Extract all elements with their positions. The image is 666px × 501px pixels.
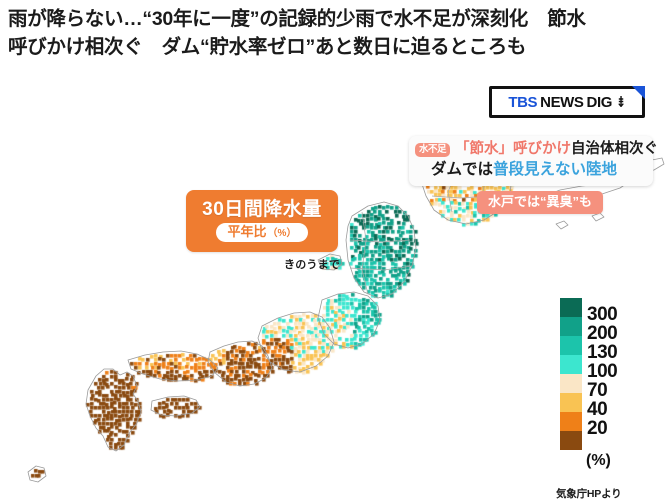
water-shortage-badge: 水不足 <box>415 143 450 157</box>
legend-band-7 <box>560 431 582 450</box>
legend-band-1 <box>560 317 582 336</box>
headline-line-2: 呼びかけ相次ぐ ダム“貯水率ゼロ”あと数日に迫るところも <box>8 36 526 58</box>
info-line1-highlight: 「節水」呼びかけ <box>455 141 571 157</box>
info-panel-line-2: ダムでは普段見えない陸地 <box>431 161 617 180</box>
download-arrow-icon: ⇟ <box>616 95 626 110</box>
info-line1-rest: 自治体相次ぐ <box>571 141 658 157</box>
headline-line-1: 雨が降らない…“30年に一度”の記録的少雨で水不足が深刻化 節水 <box>8 8 586 30</box>
legend-label-70: 70 <box>587 381 607 400</box>
legend-source-label: 気象庁HPより <box>556 486 621 501</box>
info-panel: 水不足 「節水」呼びかけ自治体相次ぐ ダムでは普段見えない陸地 <box>409 136 653 186</box>
legend-band-0 <box>560 298 582 317</box>
legend-label-200: 200 <box>587 324 617 343</box>
legend-band-2 <box>560 336 582 355</box>
map-subnote: きのうまで <box>284 256 340 272</box>
legend-label-40: 40 <box>587 400 607 419</box>
info-panel-line-1: 「節水」呼びかけ自治体相次ぐ <box>455 141 658 158</box>
logo-news-text: NEWS <box>540 95 583 110</box>
headline: 雨が降らない…“30年に一度”の記録的少雨で水不足が深刻化 節水 呼びかけ相次ぐ… <box>8 6 658 61</box>
mito-odor-banner: 水戸では“異臭”も <box>477 191 603 214</box>
legend-band-4 <box>560 374 582 393</box>
logo-tbs-text: TBS <box>508 95 537 110</box>
legend-color-bars <box>560 298 582 450</box>
logo-fold-corner <box>632 86 645 99</box>
legend-label-100: 100 <box>587 362 617 381</box>
info-line2-lead: ダムでは <box>431 161 493 178</box>
logo-dig-text: DIG <box>587 95 612 110</box>
news-graphic: 雨が降らない…“30年に一度”の記録的少雨で水不足が深刻化 節水 呼びかけ相次ぐ… <box>0 0 666 485</box>
legend-label-300: 300 <box>587 305 617 324</box>
legend-label-130: 130 <box>587 343 617 362</box>
legend-label-20: 20 <box>587 419 607 438</box>
legend-band-3 <box>560 355 582 374</box>
map-title-pill-unit: （%） <box>268 228 297 241</box>
map-title-badge: 30日間降水量 平年比 （%） <box>186 190 338 252</box>
legend-unit-label: (%) <box>586 453 611 469</box>
info-line2-highlight: 普段見えない陸地 <box>493 161 617 178</box>
map-title-pill-text: 平年比 <box>228 224 267 240</box>
legend-band-5 <box>560 393 582 412</box>
map-title-pill: 平年比 （%） <box>216 223 309 243</box>
tbs-news-dig-logo[interactable]: TBS NEWS DIG ⇟ <box>489 86 645 118</box>
map-title-text: 30日間降水量 <box>202 200 322 219</box>
legend-band-6 <box>560 412 582 431</box>
